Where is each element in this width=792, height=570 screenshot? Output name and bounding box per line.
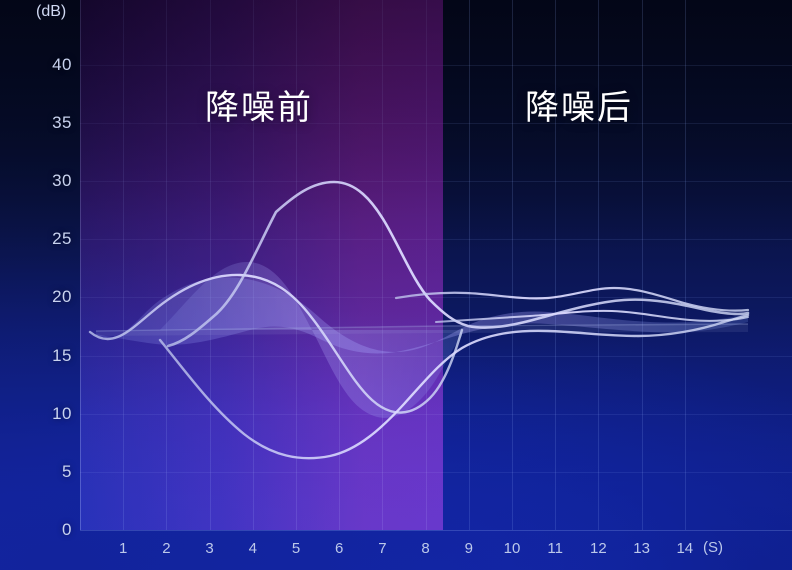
- y-tick-label: 5: [0, 462, 72, 482]
- x-tick-label: 2: [146, 540, 186, 557]
- x-tick-label: 1: [103, 540, 143, 557]
- before-noise-reduction-title: 降噪前: [205, 80, 313, 129]
- y-tick-label: 30: [0, 171, 72, 191]
- y-tick-label: 40: [0, 55, 72, 75]
- y-tick-label: 20: [0, 287, 72, 307]
- y-tick-label: 15: [0, 346, 72, 366]
- x-tick-label: 14: [665, 540, 705, 557]
- x-tick-label: 12: [578, 540, 618, 557]
- x-tick-label: 5: [276, 540, 316, 557]
- x-tick-label: 3: [190, 540, 230, 557]
- y-tick-label: 25: [0, 229, 72, 249]
- x-tick-label: 11: [535, 540, 575, 557]
- y-tick-label: 35: [0, 113, 72, 133]
- noise-reduction-chart: (dB) 4035302520151050 123456789101112131…: [0, 0, 792, 570]
- x-tick-label: 9: [449, 540, 489, 557]
- x-tick-label: 8: [406, 540, 446, 557]
- x-axis-unit-label: (S): [703, 539, 723, 556]
- after-noise-reduction-title: 降噪后: [525, 80, 633, 129]
- y-axis-unit-label: (dB): [36, 3, 66, 21]
- x-tick-label: 7: [362, 540, 402, 557]
- x-tick-label: 4: [233, 540, 273, 557]
- x-tick-label: 6: [319, 540, 359, 557]
- y-tick-label: 10: [0, 404, 72, 424]
- x-tick-label: 13: [622, 540, 662, 557]
- waveform-svg: [0, 0, 792, 570]
- x-tick-label: 10: [492, 540, 532, 557]
- y-tick-label: 0: [0, 520, 72, 540]
